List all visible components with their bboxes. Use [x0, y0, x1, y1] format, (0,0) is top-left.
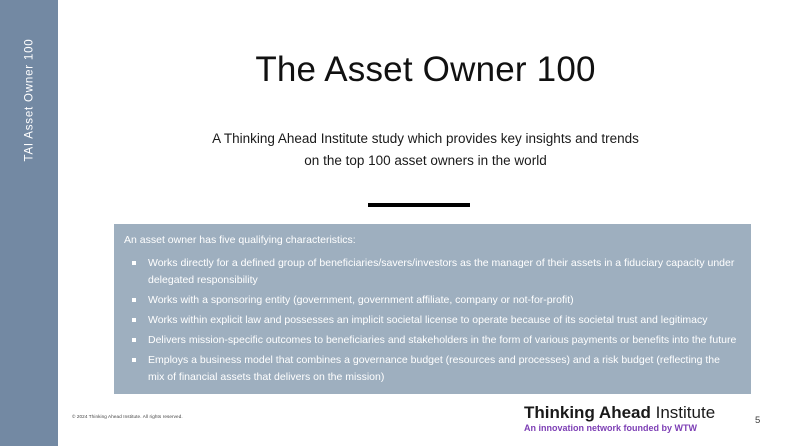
square-bullet-icon: [132, 358, 136, 362]
list-item: Works with a sponsoring entity (governme…: [124, 292, 737, 309]
list-item-text: Employs a business model that combines a…: [148, 354, 720, 383]
logo-wordmark-light: Institute: [656, 403, 716, 422]
page-number: 5: [755, 415, 760, 426]
divider-rule: [368, 203, 470, 207]
sidebar: TAI Asset Owner 100: [0, 0, 58, 446]
list-item-text: Works with a sponsoring entity (governme…: [148, 294, 574, 306]
sidebar-label-text: TAI Asset Owner 100: [23, 38, 35, 161]
logo-wordmark-bold: Thinking Ahead: [524, 403, 651, 422]
slide-canvas: TAI Asset Owner 100 The Asset Owner 100 …: [0, 0, 793, 446]
square-bullet-icon: [132, 298, 136, 302]
sidebar-vertical-label: TAI Asset Owner 100: [0, 0, 58, 200]
characteristics-list: Works directly for a defined group of be…: [124, 255, 737, 386]
list-item: Works within explicit law and possesses …: [124, 312, 737, 329]
characteristics-box: An asset owner has five qualifying chara…: [114, 224, 751, 394]
page-subtitle: A Thinking Ahead Institute study which p…: [58, 128, 793, 172]
list-item: Delivers mission-specific outcomes to be…: [124, 332, 737, 349]
subtitle-line-1: A Thinking Ahead Institute study which p…: [58, 128, 793, 150]
characteristics-intro: An asset owner has five qualifying chara…: [124, 233, 737, 247]
square-bullet-icon: [132, 318, 136, 322]
list-item-text: Works within explicit law and possesses …: [148, 314, 707, 326]
thinking-ahead-institute-logo: Thinking Ahead Institute An innovation n…: [524, 403, 715, 433]
logo-tagline: An innovation network founded by WTW: [524, 423, 715, 433]
list-item-text: Works directly for a defined group of be…: [148, 257, 734, 286]
subtitle-line-2: on the top 100 asset owners in the world: [58, 150, 793, 172]
list-item: Works directly for a defined group of be…: [124, 255, 737, 289]
square-bullet-icon: [132, 261, 136, 265]
page-title: The Asset Owner 100: [58, 50, 793, 90]
copyright-notice: © 2024 Thinking Ahead Institute. All rig…: [72, 414, 183, 419]
list-item: Employs a business model that combines a…: [124, 352, 737, 386]
logo-wordmark: Thinking Ahead Institute: [524, 403, 715, 422]
list-item-text: Delivers mission-specific outcomes to be…: [148, 334, 736, 346]
square-bullet-icon: [132, 338, 136, 342]
